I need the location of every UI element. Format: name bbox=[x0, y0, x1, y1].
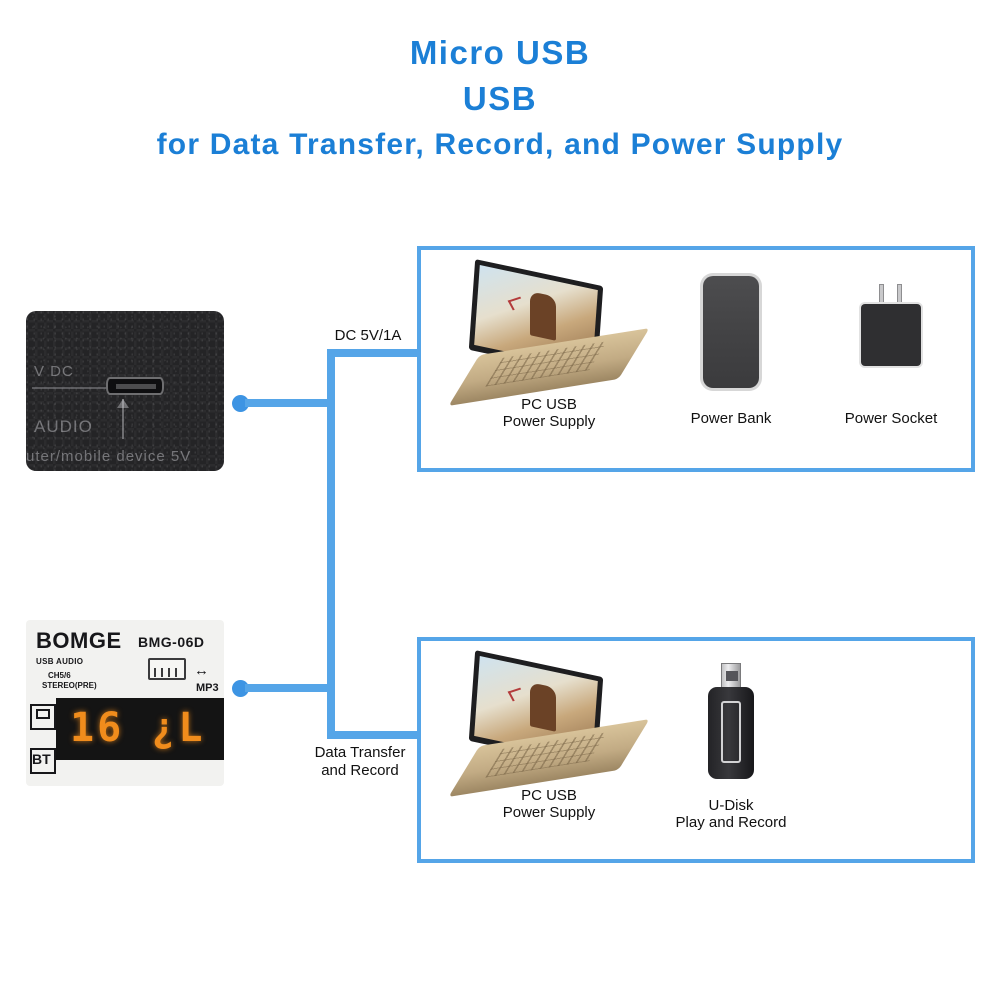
data-transfer-items: PC USB Power Supply U-Disk Play and Reco… bbox=[421, 641, 971, 859]
title-line-micro-usb: Micro USB bbox=[0, 30, 1000, 76]
micro-usb-audio-label: AUDIO bbox=[34, 417, 93, 437]
item-power-socket[interactable]: Power Socket bbox=[816, 282, 966, 427]
page-title: Micro USB USB for Data Transfer, Record,… bbox=[0, 30, 1000, 168]
item-caption: U-Disk Play and Record bbox=[651, 797, 811, 831]
micro-usb-arrow-icon bbox=[122, 399, 124, 439]
bomge-stereo-label: STEREO(PRE) bbox=[42, 681, 97, 690]
data-transfer-panel: PC USB Power Supply U-Disk Play and Reco… bbox=[417, 637, 975, 863]
item-caption: Power Socket bbox=[816, 410, 966, 427]
power-bank-icon bbox=[703, 276, 759, 388]
usb-flash-drive-icon bbox=[708, 663, 754, 779]
bomge-channel-label: CH5/6 bbox=[48, 671, 71, 680]
title-subtitle: for Data Transfer, Record, and Power Sup… bbox=[0, 122, 1000, 168]
usb-trident-icon: ↔ bbox=[194, 662, 209, 679]
wire-power-horizontal-right bbox=[327, 349, 421, 357]
title-line-usb: USB bbox=[0, 76, 1000, 122]
micro-usb-connector-icon bbox=[106, 377, 164, 395]
micro-usb-dc-label: V DC bbox=[34, 363, 74, 380]
bluetooth-label: BT bbox=[32, 751, 51, 767]
led-display-value: 16 ¿L 1?8 bbox=[70, 705, 224, 751]
laptop-icon bbox=[464, 663, 634, 781]
micro-usb-device-label: uter/mobile device 5V bbox=[26, 448, 191, 465]
item-caption: PC USB Power Supply bbox=[459, 396, 639, 430]
item-pc-usb-power-supply[interactable]: PC USB Power Supply bbox=[459, 272, 639, 430]
item-caption: PC USB Power Supply bbox=[459, 787, 639, 821]
bomge-model-label: BMG-06D bbox=[138, 634, 205, 650]
power-supply-items: PC USB Power Supply Power Bank Power Soc… bbox=[421, 250, 971, 468]
item-caption: Power Bank bbox=[656, 410, 806, 427]
wire-power-horizontal-left bbox=[245, 399, 335, 407]
wire-label-dc-5v: DC 5V/1A bbox=[318, 327, 418, 345]
wire-data-horizontal-right bbox=[327, 731, 421, 739]
led-display: 16 ¿L 1?8 bbox=[56, 698, 224, 760]
power-supply-panel: PC USB Power Supply Power Bank Power Soc… bbox=[417, 246, 975, 472]
bomge-brand-label: BOMGE bbox=[36, 628, 122, 654]
usb-a-port-icon bbox=[148, 658, 186, 680]
item-pc-usb-power-supply-data[interactable]: PC USB Power Supply bbox=[459, 663, 639, 821]
bomge-mixer-photo: BOMGE BMG-06D USB AUDIO CH5/6 STEREO(PRE… bbox=[26, 620, 224, 786]
item-u-disk[interactable]: U-Disk Play and Record bbox=[651, 663, 811, 831]
laptop-icon bbox=[464, 272, 634, 390]
bomge-usb-audio-label: USB AUDIO bbox=[36, 657, 83, 666]
wire-data-horizontal-left bbox=[245, 684, 335, 692]
item-power-bank[interactable]: Power Bank bbox=[656, 276, 806, 427]
micro-usb-port-photo: V DC AUDIO uter/mobile device 5V bbox=[26, 311, 224, 471]
wire-label-data-transfer: Data Transfer and Record bbox=[295, 744, 425, 780]
bomge-mp3-label: MP3 bbox=[196, 682, 219, 694]
power-socket-icon bbox=[858, 282, 924, 370]
computer-icon bbox=[30, 704, 56, 730]
micro-usb-divider-line bbox=[32, 387, 108, 389]
